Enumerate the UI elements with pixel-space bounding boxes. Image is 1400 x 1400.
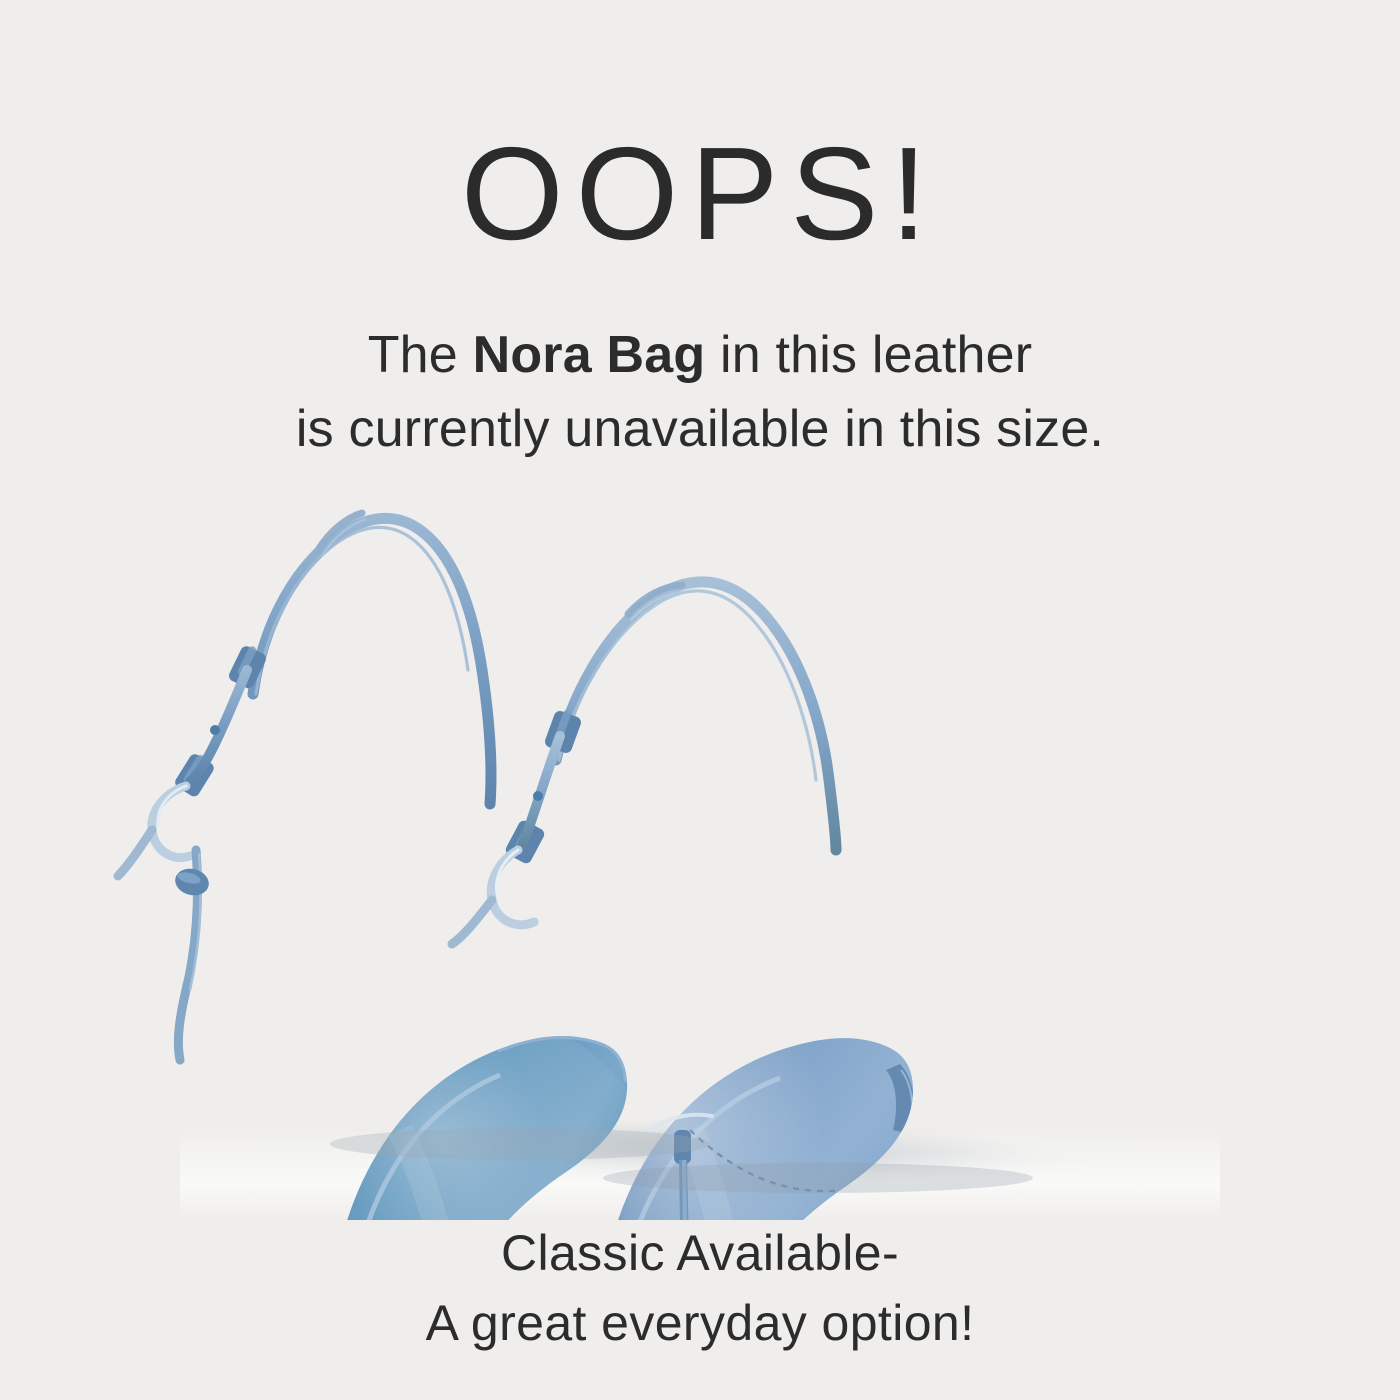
promo-card: OOPS! The Nora Bag in this leather is cu…: [0, 0, 1400, 1400]
product-image: [0, 430, 1400, 1220]
back-bag-strap: [118, 513, 491, 1060]
message-line1-suffix: in this leather: [705, 326, 1032, 384]
caption-line-2: A great everyday option!: [0, 1288, 1400, 1358]
availability-caption: Classic Available- A great everyday opti…: [0, 1218, 1400, 1358]
availability-message-line-1: The Nora Bag in this leather: [0, 318, 1400, 392]
strap-knot-left: [172, 865, 211, 898]
front-bag-strap: [452, 582, 836, 944]
product-name: Nora Bag: [473, 326, 706, 384]
strap-hook-left: [118, 786, 190, 876]
message-line1-prefix: The: [368, 326, 473, 384]
front-strap-keeper-upper: [543, 709, 582, 755]
front-strap-hook: [452, 850, 534, 944]
page-title: OOPS!: [0, 128, 1400, 260]
caption-line-1: Classic Available-: [0, 1218, 1400, 1288]
